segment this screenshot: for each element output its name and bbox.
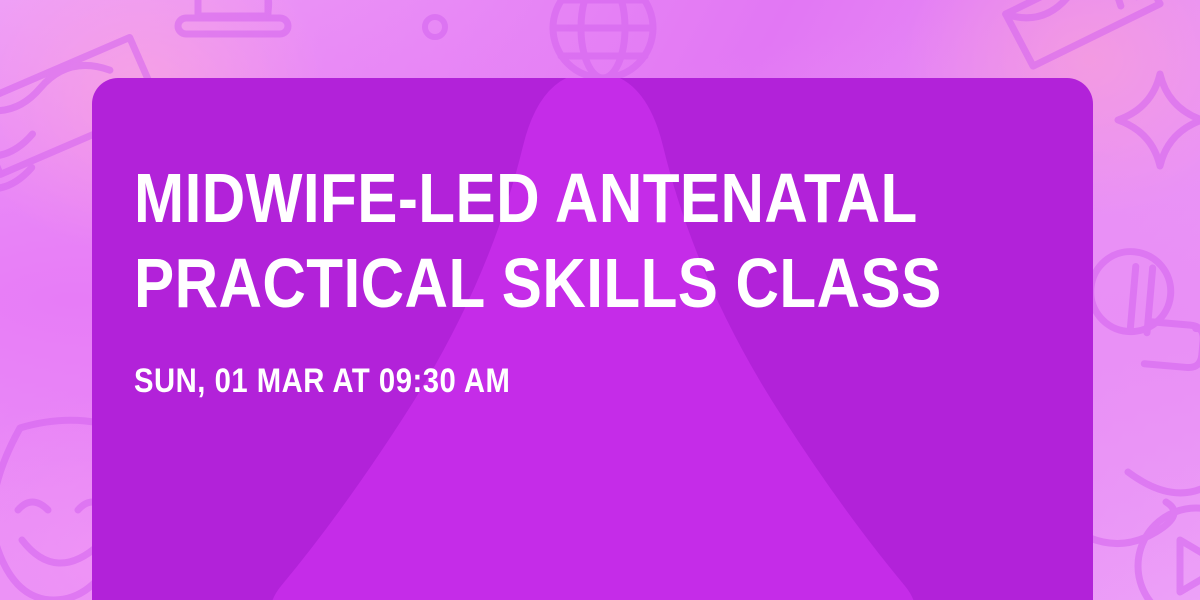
event-card[interactable]: MIDWIFE-LED ANTENATAL PRACTICAL SKILLS C… [92, 78, 1093, 600]
page-title: MIDWIFE-LED ANTENATAL PRACTICAL SKILLS C… [134, 156, 959, 326]
event-card-content: MIDWIFE-LED ANTENATAL PRACTICAL SKILLS C… [92, 78, 1093, 600]
event-banner: MIDWIFE-LED ANTENATAL PRACTICAL SKILLS C… [0, 0, 1200, 600]
event-datetime: SUN, 01 MAR AT 09:30 AM [134, 361, 959, 401]
